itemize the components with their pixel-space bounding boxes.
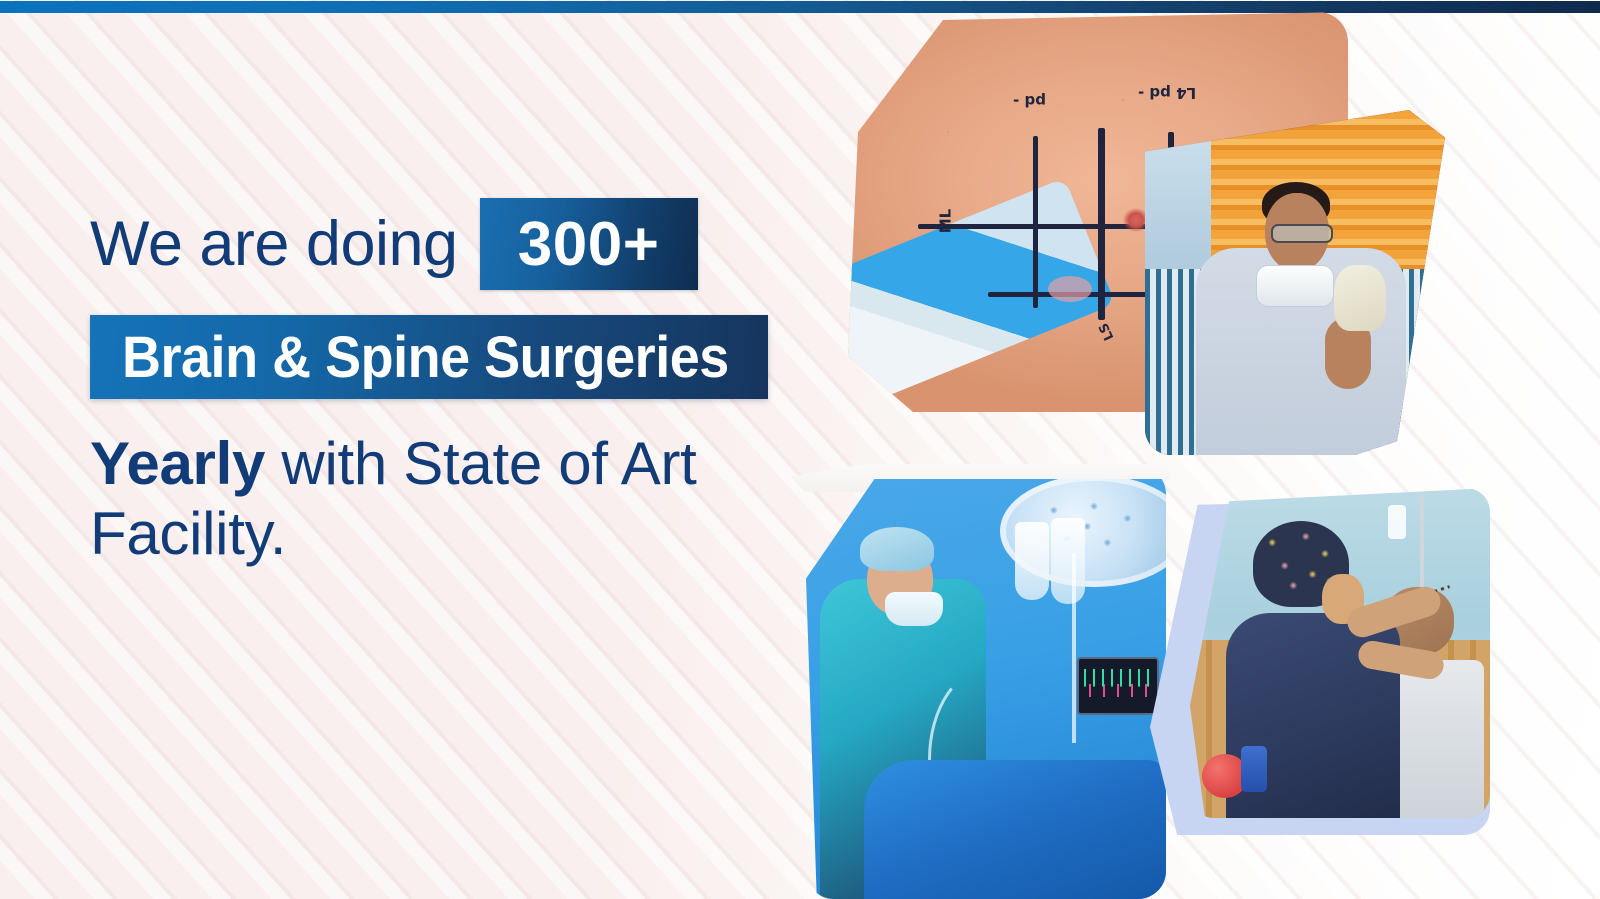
- marking-label-2: L4 pd -: [1138, 84, 1196, 102]
- iv-drip-bag: [1388, 505, 1406, 539]
- photo-collage: pd - L4 pd - ML NL LS: [0, 0, 1600, 899]
- photo-post-op-scalp-exam: [1190, 488, 1490, 818]
- marking-label-3: ML: [936, 209, 954, 234]
- photo-operating-theatre: [806, 466, 1166, 899]
- marking-label-1: pd -: [1013, 92, 1046, 110]
- blue-cylinder-object: [1241, 746, 1267, 792]
- photo-recovering-patient: [1145, 110, 1445, 455]
- surgical-drape-blue: [864, 760, 1166, 899]
- iv-pole: [1072, 553, 1076, 744]
- iv-stand: [1420, 495, 1424, 601]
- surgical-cap: [860, 527, 934, 571]
- skin-blot-1: [1048, 276, 1092, 302]
- bandaged-hand-thumbs-up: [1334, 265, 1386, 331]
- patient-eyeglasses: [1271, 224, 1333, 243]
- iv-bag-2: [1051, 518, 1085, 604]
- promotional-banner: We are doing 300+ Brain & Spine Surgerie…: [0, 0, 1600, 899]
- marking-line-vertical-1: [1033, 136, 1038, 308]
- vitals-waveform: [1084, 664, 1152, 708]
- surgical-mask: [885, 592, 943, 626]
- cervical-collar: [1256, 265, 1334, 307]
- iv-bag-1: [1015, 522, 1049, 600]
- vitals-monitor: [1077, 657, 1159, 715]
